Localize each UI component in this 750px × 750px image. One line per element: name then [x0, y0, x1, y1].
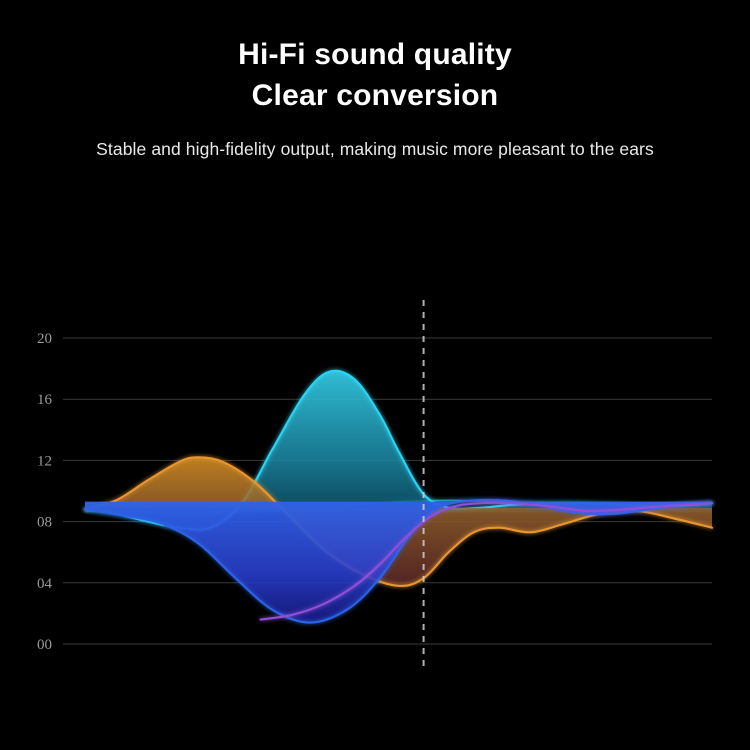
page-title-line-2: Clear conversion	[0, 75, 750, 116]
waveform-chart-svg: 201612080400	[0, 270, 750, 690]
y-axis-tick-label: 16	[37, 392, 53, 408]
page-title-line-1: Hi-Fi sound quality	[0, 34, 750, 75]
promo-banner: Hi-Fi sound quality Clear conversion Sta…	[0, 0, 750, 750]
page-subtitle: Stable and high-fidelity output, making …	[0, 136, 750, 162]
y-axis-tick-label: 00	[37, 637, 52, 653]
y-axis-tick-label: 08	[37, 515, 52, 531]
y-axis-tick-label: 20	[37, 331, 52, 347]
y-axis-tick-label: 12	[37, 453, 52, 469]
chart-y-axis-ticks: 201612080400	[37, 331, 53, 653]
chart-series-areas	[85, 371, 712, 623]
y-axis-tick-label: 04	[37, 576, 53, 592]
header: Hi-Fi sound quality Clear conversion Sta…	[0, 0, 750, 162]
waveform-chart: 201612080400	[0, 270, 750, 690]
